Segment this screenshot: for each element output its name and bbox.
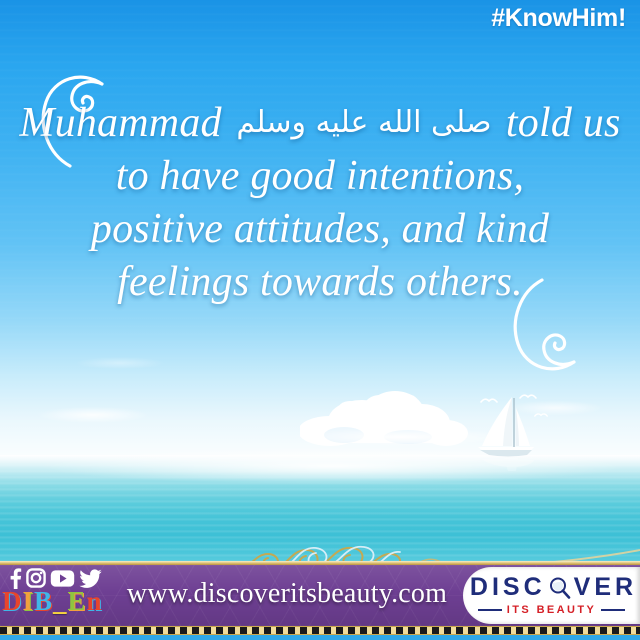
website-url[interactable]: www.discoveritsbeauty.com xyxy=(112,578,462,610)
bottom-blue-strip xyxy=(0,635,640,640)
handle-letter: B xyxy=(34,588,53,615)
cloud-left-wisp xyxy=(18,404,168,426)
quote-line-1-part-a: Muhammad xyxy=(19,100,221,146)
sailboat-svg xyxy=(468,392,554,472)
instagram-icon[interactable] xyxy=(26,568,46,588)
tagline-rule-right xyxy=(601,609,625,611)
discover-logo-panel[interactable]: DISC VER ITS BEAUTY xyxy=(463,567,640,624)
quote-line-1-part-b: told us xyxy=(506,100,621,146)
sailboat xyxy=(468,392,554,477)
discover-word-before: DISC xyxy=(470,575,546,600)
discover-wordmark: DISC VER xyxy=(470,575,637,600)
youtube-icon[interactable] xyxy=(50,569,75,588)
footer-bar: DIB_En www.discoveritsbeauty.com DISC VE… xyxy=(0,565,640,626)
tagline-rule-left xyxy=(478,609,502,611)
twitter-icon[interactable] xyxy=(79,569,102,588)
handle-letter: n xyxy=(87,588,103,615)
quote-line-1: Muhammad صلى الله عليه وسلم told us xyxy=(0,96,640,150)
discover-tagline-group: ITS BEAUTY xyxy=(478,604,625,616)
dashed-bottom-border xyxy=(0,626,640,635)
discover-tagline: ITS BEAUTY xyxy=(507,604,596,616)
handle-label: DIB_En xyxy=(2,588,103,615)
cloud-upper-wisp xyxy=(60,355,180,371)
handle-letter: D xyxy=(2,588,23,615)
sallallahu-alayhi-wasallam-symbol: صلى الله عليه وسلم xyxy=(232,105,495,140)
magnifier-icon xyxy=(548,576,572,600)
discover-word-after: VER xyxy=(574,575,637,600)
handle-letter: E xyxy=(68,588,87,615)
quote-line-3: positive attitudes, and kind xyxy=(0,203,640,256)
quote-line-4: feelings towards others. xyxy=(0,256,640,309)
hashtag-label: #KnowHim! xyxy=(491,4,626,33)
quote-line-2: to have good intentions, xyxy=(0,150,640,203)
handle-letter: _ xyxy=(53,588,68,615)
handle-letter: I xyxy=(23,588,35,615)
quote-block: Muhammad صلى الله عليه وسلم told us to h… xyxy=(0,96,640,309)
poster-canvas: #KnowHim! Muhammad صلى الله عليه وسلم to… xyxy=(0,0,640,640)
